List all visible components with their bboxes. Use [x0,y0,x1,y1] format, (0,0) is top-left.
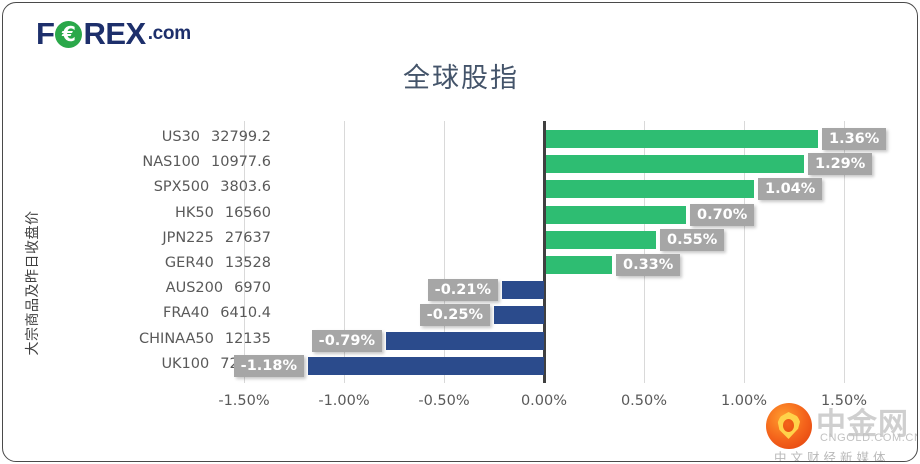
category-label: NAS10010977.6 [96,154,271,170]
category-label: FRA406410.4 [96,305,271,321]
bar-positive[interactable] [546,130,818,148]
category-label: JPN22527637 [96,230,271,246]
bar-data-label: -0.21% [428,279,498,301]
category-label: US3032799.2 [96,129,271,145]
cngold-seal-icon [766,403,812,449]
bar-data-label: 1.29% [808,153,872,175]
watermark-url: CNGOLD.COM.CN [820,432,918,444]
bar-negative[interactable] [386,332,544,350]
category-label: AUS2006970 [96,280,271,296]
bar-negative[interactable] [308,357,544,375]
category-label: GER4013528 [96,255,271,271]
bar-data-label: -0.25% [420,304,490,326]
bar-positive[interactable] [546,180,754,198]
bar-positive[interactable] [546,231,656,249]
bar-data-label: -1.18% [234,355,304,377]
chart-card: F € REX .com 全球股指 大宗商品及昨日收盘价 -1.50%-1.00… [2,2,918,462]
bar-positive[interactable] [546,206,686,224]
bar-chart-plot: -1.50%-1.00%-0.50%0.00%0.50%1.00%1.50%US… [3,3,918,462]
bar-data-label: 0.70% [690,204,754,226]
bar-negative[interactable] [502,281,544,299]
bar-negative[interactable] [494,306,544,324]
watermark-tagline: 中文财经新媒体 [774,447,890,462]
bar-positive[interactable] [546,256,612,274]
category-label: SPX5003803.6 [96,179,271,195]
bar-data-label: 1.04% [758,178,822,200]
bar-data-label: 0.55% [660,229,724,251]
category-label: HK5016560 [96,205,271,221]
cngold-watermark: 中金网 CNGOLD.COM.CN 中文财经新媒体 [760,401,918,462]
bar-positive[interactable] [546,155,804,173]
bar-data-label: -0.79% [312,330,382,352]
bar-data-label: 1.36% [822,128,886,150]
bar-data-label: 0.33% [616,254,680,276]
category-label: CHINAA5012135 [96,331,271,347]
